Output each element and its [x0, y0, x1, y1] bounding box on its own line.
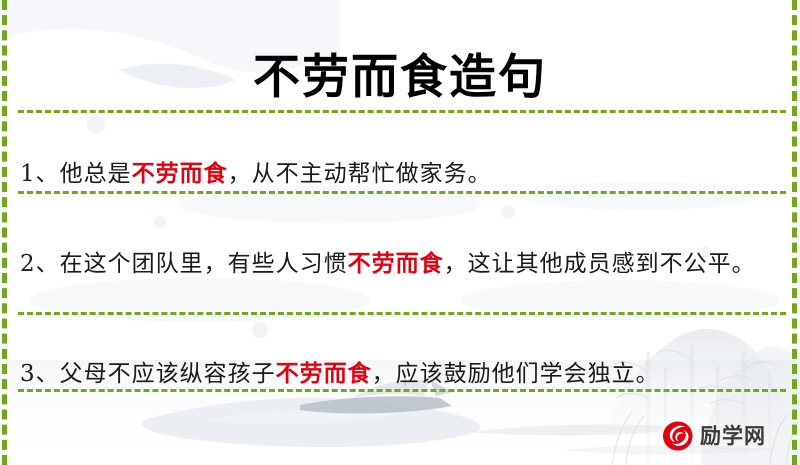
sentence-2-text-before: 在这个团队里，有些人习惯	[60, 251, 348, 277]
sentence-3-text-before: 父母不应该纵容孩子	[60, 361, 276, 387]
sentence-2-text-after: ，这让其他成员感到不公平。	[444, 251, 756, 277]
sentence-2-idiom-highlight: 不劳而食	[348, 250, 444, 277]
worksheet-page: 不劳而食造句 1、他总是不劳而食，从不主动帮忙做家务。 2、在这个团队里，有些人…	[0, 0, 800, 465]
site-brand-name: 励学网	[700, 426, 766, 447]
sentence-3-idiom-highlight: 不劳而食	[276, 360, 372, 387]
divider-after-sentence-2	[18, 312, 786, 315]
page-title: 不劳而食造句	[0, 49, 800, 108]
sentence-2-number: 2、	[20, 251, 60, 277]
site-watermark: 励学网	[662, 420, 766, 452]
red-swirl-flame-icon	[662, 420, 694, 452]
example-sentence-3: 3、父母不应该纵容孩子不劳而食，应该鼓励他们学会独立。	[20, 355, 782, 393]
divider-below-title	[18, 110, 786, 113]
sentence-1-number: 1、	[20, 161, 60, 187]
sentence-3-number: 3、	[20, 361, 60, 387]
example-sentence-2: 2、在这个团队里，有些人习惯不劳而食，这让其他成员感到不公平。	[20, 245, 782, 283]
sentence-1-idiom-highlight: 不劳而食	[132, 160, 228, 187]
sentence-3-text-after: ，应该鼓励他们学会独立。	[372, 361, 660, 387]
sentence-1-text-before: 他总是	[60, 161, 132, 187]
example-sentence-1: 1、他总是不劳而食，从不主动帮忙做家务。	[20, 155, 782, 193]
sentence-1-text-after: ，从不主动帮忙做家务。	[228, 161, 492, 187]
